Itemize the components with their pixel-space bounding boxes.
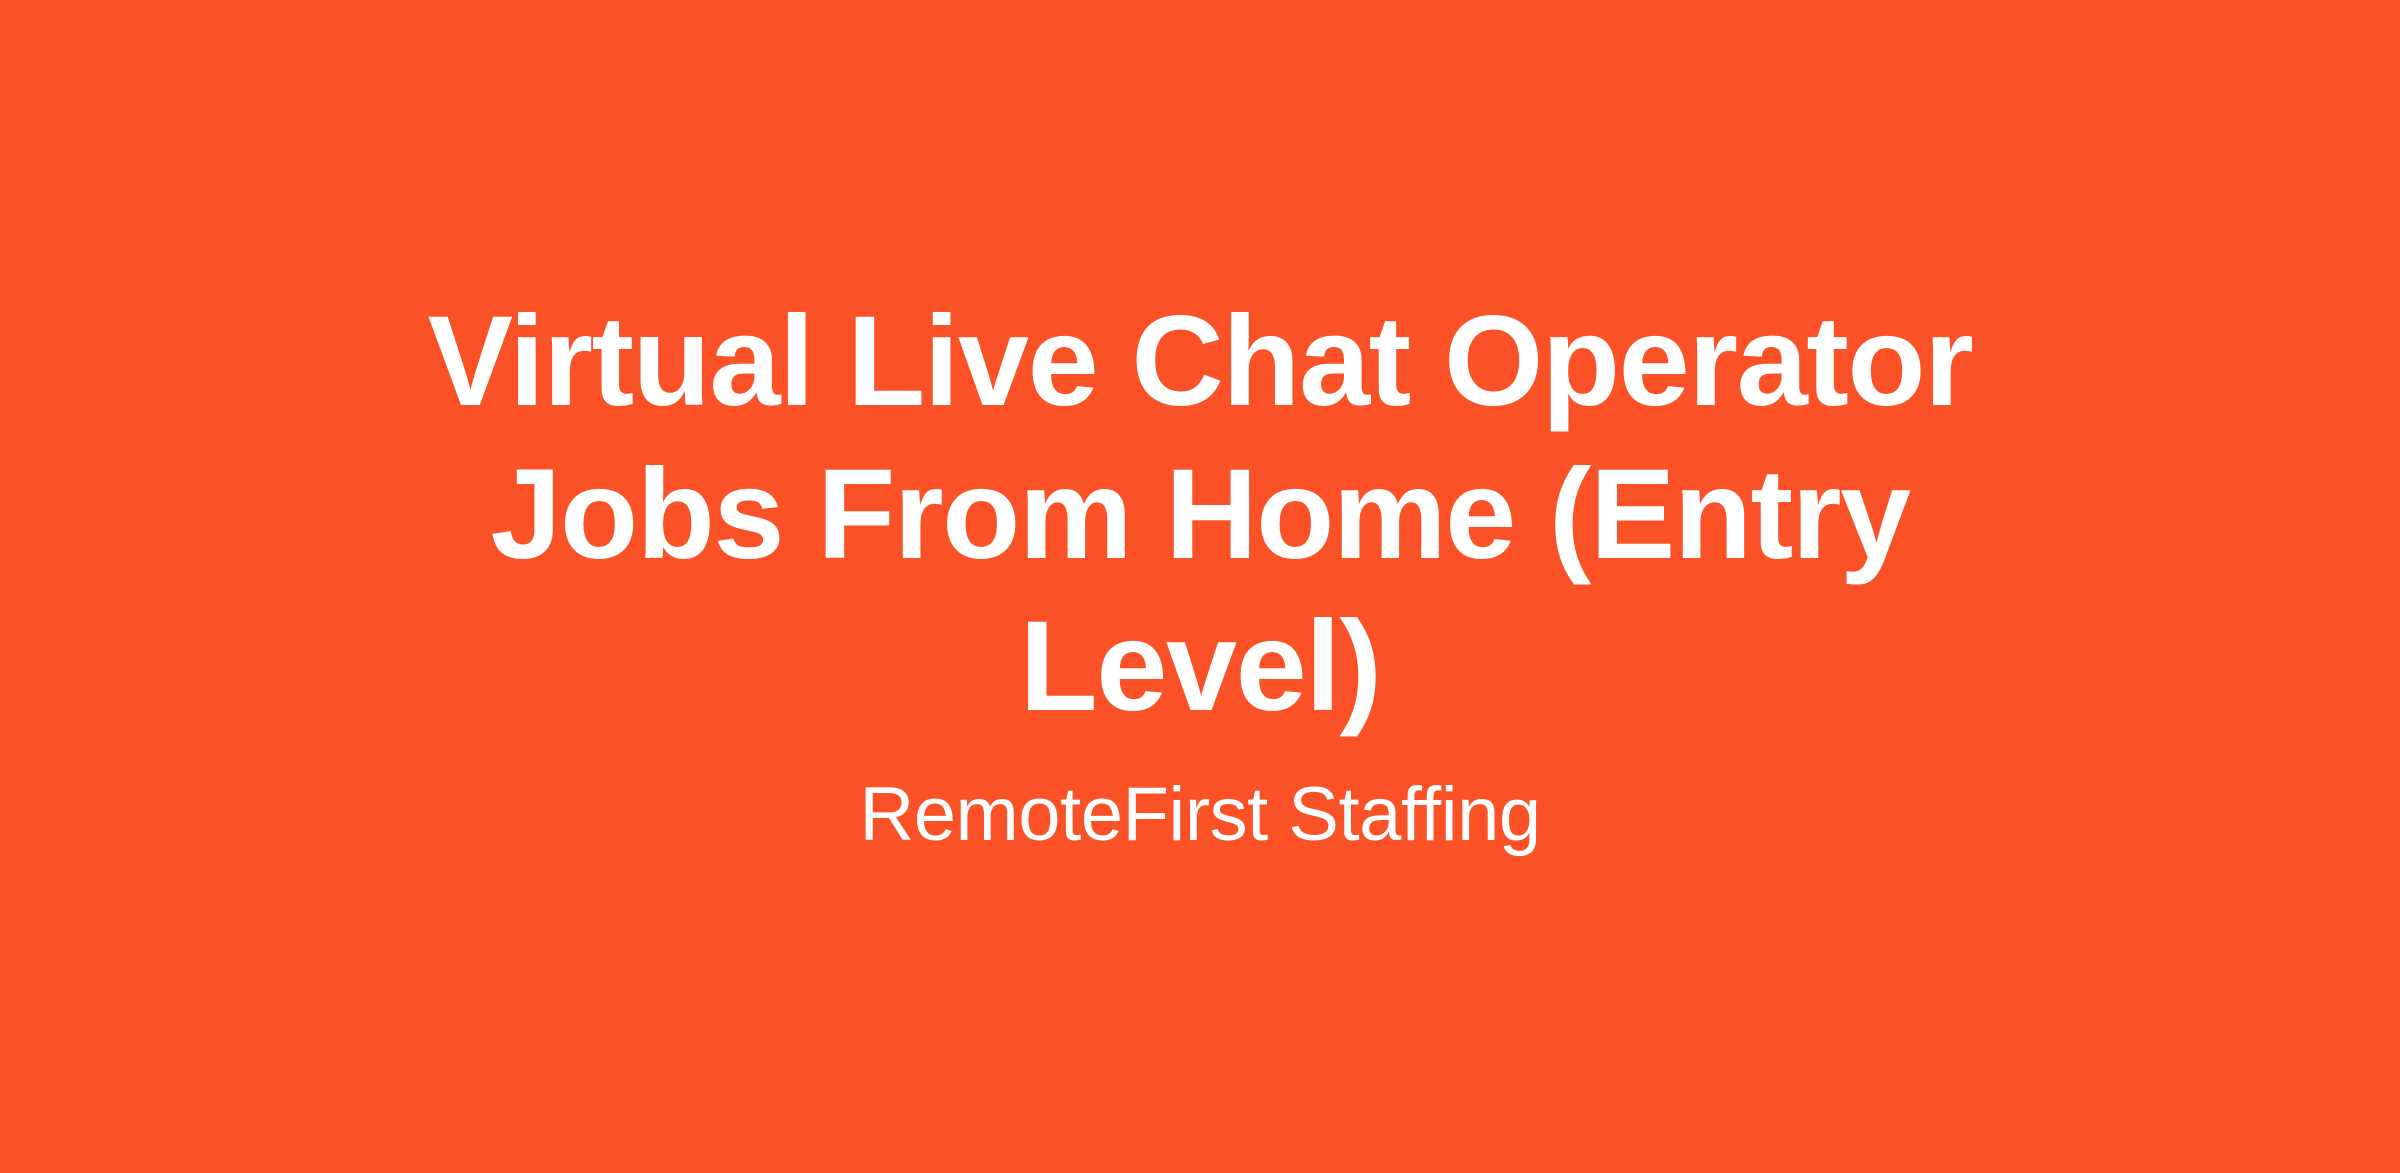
page-title: Virtual Live Chat Operator Jobs From Hom…	[415, 286, 1985, 743]
company-name: RemoteFirst Staffing	[859, 769, 1540, 860]
job-text-stack: Virtual Live Chat Operator Jobs From Hom…	[400, 286, 2000, 860]
job-posting-card: Virtual Live Chat Operator Jobs From Hom…	[0, 0, 2400, 1173]
